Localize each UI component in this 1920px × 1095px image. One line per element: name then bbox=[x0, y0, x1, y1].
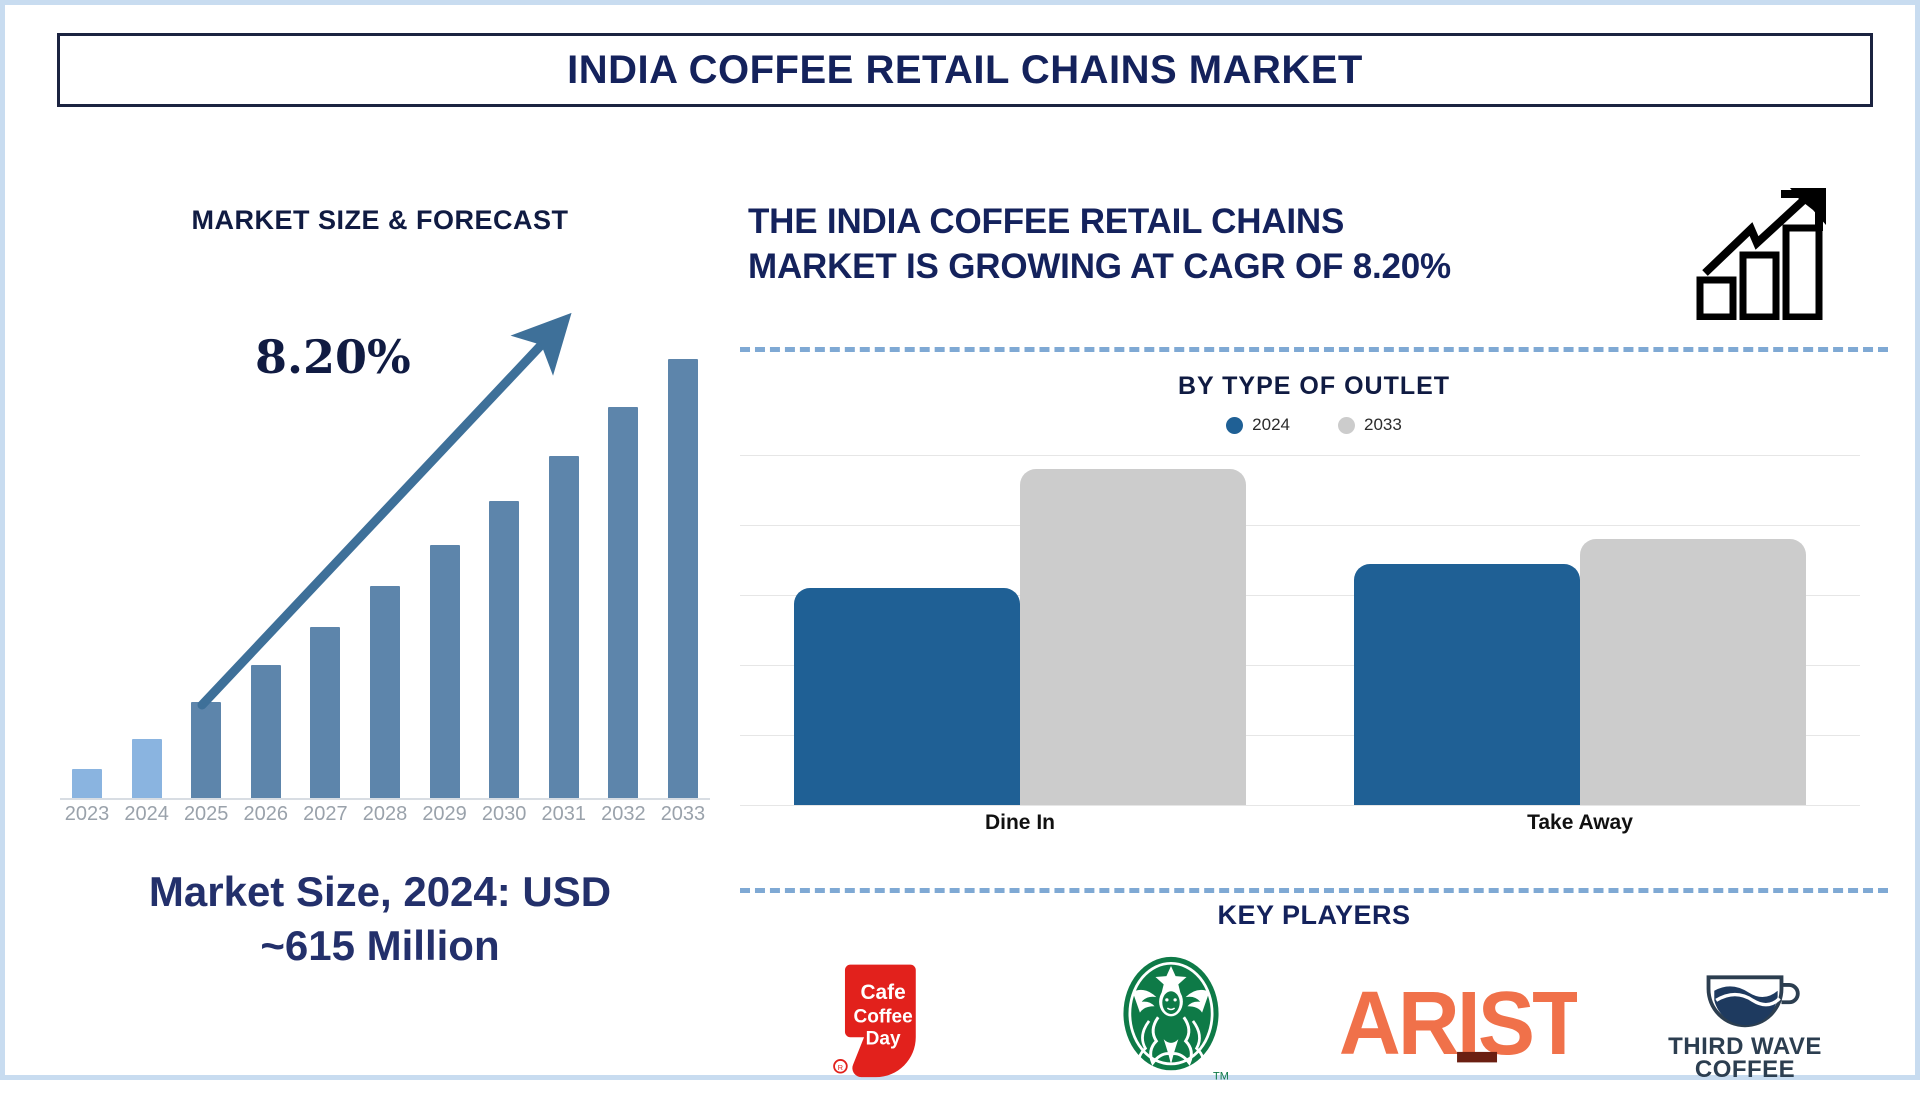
forecast-bar bbox=[72, 769, 102, 799]
forecast-bar bbox=[370, 586, 400, 799]
forecast-bar bbox=[132, 739, 162, 799]
forecast-bar bbox=[489, 501, 519, 799]
key-players-heading: KEY PLAYERS bbox=[740, 900, 1888, 931]
legend-label: 2033 bbox=[1364, 415, 1402, 435]
forecast-bar bbox=[310, 627, 340, 799]
forecast-year-label: 2025 bbox=[183, 803, 229, 835]
legend-swatch-icon bbox=[1226, 417, 1243, 434]
logo-barista: BARISTA bbox=[1333, 945, 1583, 1095]
outlet-bar-group bbox=[1354, 455, 1806, 805]
forecast-bar bbox=[608, 407, 638, 799]
logo-third-wave-coffee: THIRD WAVE COFFEE bbox=[1620, 945, 1870, 1095]
by-type-of-outlet-chart: Dine InTake Away bbox=[740, 455, 1860, 875]
forecast-year-label: 2033 bbox=[660, 803, 706, 835]
outlet-bar bbox=[1020, 469, 1246, 805]
cagr-badge-left: 8.20% bbox=[255, 330, 411, 384]
forecast-bar bbox=[251, 665, 281, 799]
ccd-line-3: Day bbox=[865, 1029, 900, 1050]
forecast-year-label: 2030 bbox=[481, 803, 527, 835]
outlet-chart-legend: 20242033 bbox=[740, 415, 1888, 435]
market-size-line-2: ~615 Million bbox=[25, 919, 735, 973]
key-players-logos: Cafe Coffee Day R bbox=[740, 945, 1888, 1095]
legend-label: 2024 bbox=[1252, 415, 1290, 435]
page-title: INDIA COFFEE RETAIL CHAINS MARKET bbox=[567, 48, 1363, 93]
legend-item[interactable]: 2033 bbox=[1338, 415, 1402, 435]
forecast-year-label: 2032 bbox=[600, 803, 646, 835]
divider-bottom bbox=[740, 888, 1888, 893]
cagr-statement-line-1: THE INDIA COFFEE RETAIL CHAINS bbox=[748, 200, 1678, 245]
forecast-year-labels: 2023202420252026202720282029203020312032… bbox=[60, 803, 710, 835]
forecast-year-label: 2031 bbox=[541, 803, 587, 835]
market-size-forecast-chart: 2023202420252026202720282029203020312032… bbox=[50, 305, 710, 835]
forecast-bar bbox=[549, 456, 579, 799]
forecast-year-label: 2028 bbox=[362, 803, 408, 835]
starbucks-siren-logo-icon: TM bbox=[1107, 950, 1235, 1090]
growth-chart-arrow-icon bbox=[1695, 185, 1835, 320]
by-type-of-outlet-heading: BY TYPE OF OUTLET bbox=[740, 372, 1888, 401]
title-box: INDIA COFFEE RETAIL CHAINS MARKET bbox=[57, 33, 1873, 107]
third-wave-line-2: COFFEE bbox=[1694, 1056, 1794, 1083]
outlet-category-label: Take Away bbox=[1354, 811, 1806, 835]
forecast-bar bbox=[668, 359, 698, 799]
market-size-line-1: Market Size, 2024: USD bbox=[25, 865, 735, 919]
gridline bbox=[740, 805, 1860, 806]
legend-swatch-icon bbox=[1338, 417, 1355, 434]
logo-cafe-coffee-day: Cafe Coffee Day R bbox=[759, 945, 1009, 1095]
starbucks-tm-mark: TM bbox=[1213, 1070, 1229, 1082]
outlet-bar bbox=[1354, 564, 1580, 806]
forecast-year-label: 2023 bbox=[64, 803, 110, 835]
forecast-year-label: 2029 bbox=[422, 803, 468, 835]
outlet-bar bbox=[794, 588, 1020, 805]
forecast-bars bbox=[60, 329, 710, 799]
legend-item[interactable]: 2024 bbox=[1226, 415, 1290, 435]
right-panel: THE INDIA COFFEE RETAIL CHAINS MARKET IS… bbox=[740, 175, 1890, 1065]
market-size-value: Market Size, 2024: USD ~615 Million bbox=[25, 865, 735, 973]
logo-starbucks: TM bbox=[1046, 945, 1296, 1095]
forecast-baseline bbox=[60, 798, 710, 800]
cagr-statement-line-2: MARKET IS GROWING AT CAGR OF 8.20% bbox=[748, 245, 1678, 290]
cafe-coffee-day-logo-icon: Cafe Coffee Day R bbox=[825, 950, 943, 1090]
forecast-year-label: 2026 bbox=[243, 803, 289, 835]
barista-logo-icon: BARISTA bbox=[1339, 968, 1577, 1073]
ccd-line-1: Cafe bbox=[860, 981, 905, 1004]
third-wave-coffee-logo-icon: THIRD WAVE COFFEE bbox=[1649, 958, 1841, 1083]
divider-top bbox=[740, 347, 1888, 352]
forecast-bar bbox=[430, 545, 460, 799]
forecast-year-label: 2024 bbox=[124, 803, 170, 835]
cagr-statement: THE INDIA COFFEE RETAIL CHAINS MARKET IS… bbox=[748, 200, 1678, 290]
infographic-page: INDIA COFFEE RETAIL CHAINS MARKET MARKET… bbox=[0, 0, 1920, 1080]
outlet-bar bbox=[1580, 539, 1806, 805]
forecast-year-label: 2027 bbox=[302, 803, 348, 835]
svg-text:R: R bbox=[837, 1063, 842, 1072]
outlet-category-label: Dine In bbox=[794, 811, 1246, 835]
market-size-forecast-heading: MARKET SIZE & FORECAST bbox=[25, 205, 735, 236]
outlet-chart-category-labels: Dine InTake Away bbox=[740, 811, 1860, 835]
outlet-chart-bars bbox=[740, 455, 1860, 805]
market-size-forecast-panel: MARKET SIZE & FORECAST 20232024202520262… bbox=[25, 175, 735, 1055]
forecast-bar bbox=[191, 702, 221, 799]
outlet-bar-group bbox=[794, 455, 1246, 805]
ccd-line-2: Coffee bbox=[853, 1007, 912, 1028]
